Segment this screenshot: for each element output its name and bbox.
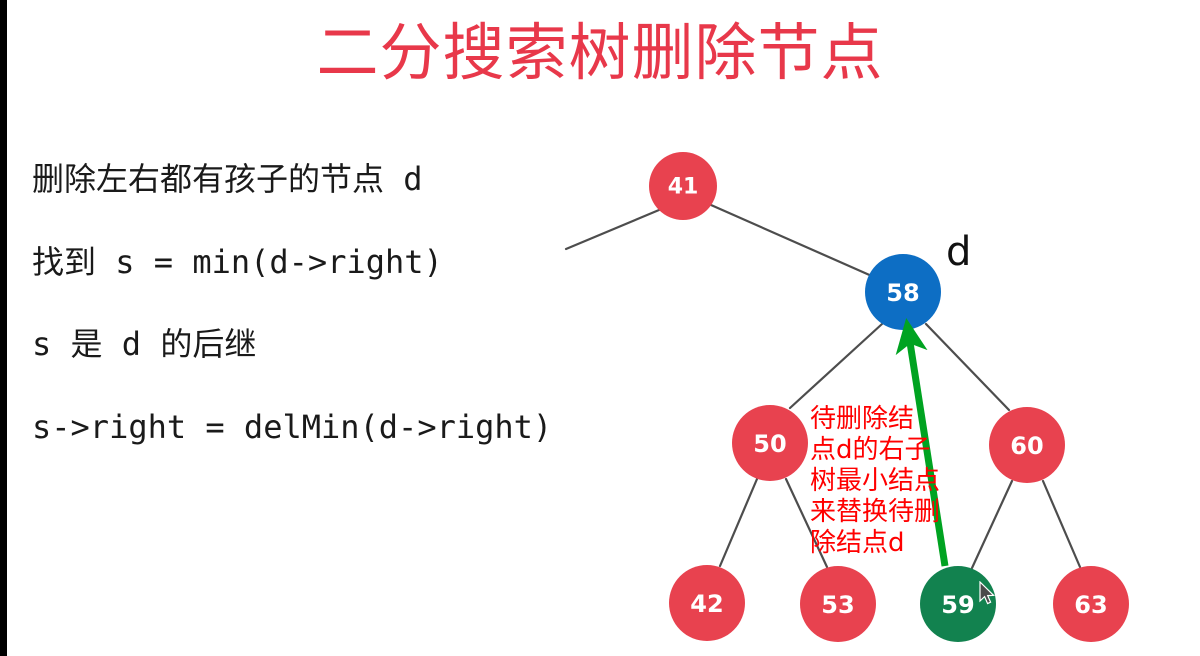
slide-canvas: 二分搜索树删除节点 删除左右都有孩子的节点 d 找到 s = min(d->ri… (0, 0, 1200, 656)
annotation-line-4: 来替换待删 (810, 497, 945, 528)
edge-60-to-59 (972, 481, 1012, 568)
tree-node-41-label: 41 (668, 175, 699, 200)
edge-50-to-42 (720, 479, 757, 566)
tree-node-63[interactable]: 63 (1053, 566, 1129, 642)
edge-58-to-50 (790, 324, 882, 408)
annotation-line-1: 待删除结 (810, 404, 945, 435)
tree-node-50-label: 50 (753, 430, 786, 458)
tree-node-41[interactable]: 41 (649, 152, 717, 220)
annotation-text: 待删除结 点d的右子 树最小结点 来替换待删 除结点d (810, 404, 945, 559)
annotation-line-5: 除结点d (810, 528, 945, 559)
tree-node-53[interactable]: 53 (800, 566, 876, 642)
edge-41-to-58 (711, 205, 874, 277)
tree-node-63-label: 63 (1074, 591, 1107, 619)
node-d-marker-label: d (946, 232, 971, 272)
tree-node-42[interactable]: 42 (669, 565, 745, 641)
tree-node-59-label: 59 (941, 591, 974, 619)
edge-60-to-63 (1043, 481, 1080, 567)
tree-node-42-label: 42 (690, 590, 723, 618)
tree-node-58[interactable]: 58 (865, 254, 941, 330)
annotation-line-3: 树最小结点 (810, 466, 945, 497)
binary-search-tree-diagram: 41 58 50 60 42 53 59 63 (0, 0, 1200, 656)
annotation-line-2: 点d的右子 (810, 435, 945, 466)
tree-node-60-label: 60 (1010, 432, 1043, 460)
tree-node-53-label: 53 (821, 591, 854, 619)
mouse-pointer-icon (978, 581, 998, 607)
tree-node-50[interactable]: 50 (732, 405, 808, 481)
edge-58-to-60 (926, 324, 1009, 410)
tree-node-60[interactable]: 60 (989, 407, 1065, 483)
edge-41-left-stub (566, 210, 659, 249)
tree-node-58-label: 58 (886, 279, 919, 307)
